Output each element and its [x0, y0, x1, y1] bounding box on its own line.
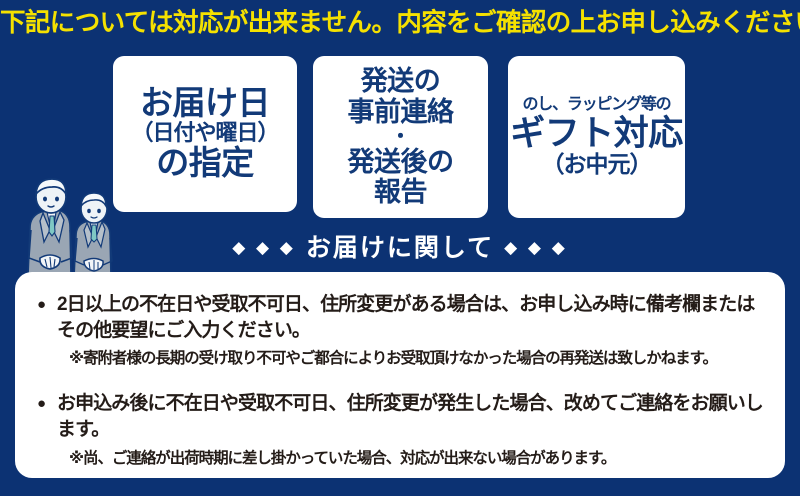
- note-sub-label: ※尚、ご連絡が出荷時期に差し掛かっていた場合、対応が出来ない場合があります。: [35, 449, 765, 469]
- note-item: ●2日以上の不在日や受取不可日、住所変更がある場合は、お申し込み時に備考欄または…: [35, 292, 765, 369]
- bullet-icon: ●: [37, 392, 45, 416]
- diamond-icon-right: ◆ ◆ ◆: [504, 238, 568, 257]
- note-sub-label: ※寄附者様の長期の受け取り不可やご都合によりお受取頂けなかった場合の再発送は致し…: [35, 349, 765, 369]
- page-title: 下記については対応が出来ません。内容をご確認の上お申し込みください。: [0, 8, 800, 39]
- delivery-date-card: お届け日 （日付や曜日） の指定: [113, 56, 297, 212]
- card-line: ギフト対応: [510, 116, 683, 152]
- notice-banner: 下記については対応が出来ません。内容をご確認の上お申し込みください。 お届け日 …: [0, 0, 800, 496]
- note-main-text: ●2日以上の不在日や受取不可日、住所変更がある場合は、お申し込み時に備考欄または…: [35, 292, 765, 343]
- card-line: のし、ラッピング等の: [522, 97, 670, 114]
- card-line: 発送の: [361, 67, 441, 95]
- note-main-text: ●お申込み後に不在日や受取不可日、住所変更が発生した場合、改めてご連絡をお願いし…: [35, 391, 765, 442]
- card-line: お届け日: [140, 86, 270, 120]
- bullet-icon: ●: [37, 293, 45, 317]
- section-heading-label: お届けに関して: [306, 234, 494, 262]
- gift-wrapping-card: のし、ラッピング等の ギフト対応 （お中元）: [508, 56, 685, 218]
- card-line-separator: ・: [391, 127, 411, 148]
- card-line: 発送後の: [348, 148, 454, 176]
- card-line: （日付や曜日）: [131, 122, 278, 145]
- card-line: の指定: [156, 146, 254, 180]
- shipping-notice-card: 発送の 事前連絡 ・ 発送後の 報告: [313, 56, 488, 218]
- diamond-icon-left: ◆ ◆ ◆: [232, 238, 296, 257]
- note-main-label: お申込み後に不在日や受取不可日、住所変更が発生した場合、改めてご連絡をお願いしま…: [57, 393, 763, 440]
- card-line: 事前連絡: [348, 98, 454, 126]
- note-main-label: 2日以上の不在日や受取不可日、住所変更がある場合は、お申し込み時に備考欄またはそ…: [57, 294, 754, 341]
- notes-panel: ●2日以上の不在日や受取不可日、住所変更がある場合は、お申し込み時に備考欄または…: [15, 272, 785, 478]
- card-line: （お中元）: [542, 153, 652, 177]
- note-item: ●お申込み後に不在日や受取不可日、住所変更が発生した場合、改めてご連絡をお願いし…: [35, 391, 765, 468]
- card-line: 報告: [374, 178, 427, 206]
- section-heading: ◆ ◆ ◆お届けに関して◆ ◆ ◆: [0, 228, 800, 264]
